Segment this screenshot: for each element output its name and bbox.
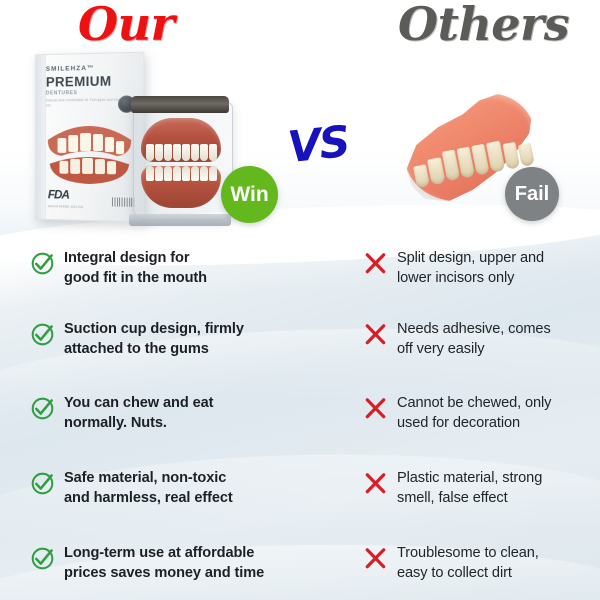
list-item: Troublesome to clean, easy to collect di… (363, 543, 539, 599)
cross-icon (363, 471, 388, 496)
list-item-label: Plastic material, strong smell, false ef… (397, 468, 542, 508)
denture-jar-lid (131, 96, 229, 113)
denture-jar-base (129, 214, 231, 226)
check-icon (30, 322, 55, 347)
check-icon (30, 251, 55, 276)
hero-image-area: SMILEHZA™ PREMIUM DENTURES Natural look … (0, 0, 600, 240)
vs-label: VS (286, 117, 351, 173)
list-item-label: Long-term use at affordable prices saves… (64, 543, 264, 583)
list-item: You can chew and eat normally. Nuts. (30, 393, 213, 449)
list-item-label: Needs adhesive, comes off very easily (397, 319, 551, 359)
list-item-label: You can chew and eat normally. Nuts. (64, 393, 213, 433)
list-item-label: Troublesome to clean, easy to collect di… (397, 543, 539, 583)
check-icon (30, 396, 55, 421)
cross-icon (363, 546, 388, 571)
denture-lower-teeth (144, 166, 218, 181)
list-item: Plastic material, strong smell, false ef… (363, 468, 542, 524)
cross-icon (363, 322, 388, 347)
denture-upper-teeth (144, 144, 218, 161)
list-item-label: Cannot be chewed, only used for decorati… (397, 393, 551, 433)
list-item: Safe material, non-toxic and harmless, r… (30, 468, 233, 524)
others-feature-column: Split design, upper and lower incisors o… (363, 242, 600, 600)
list-item: Long-term use at affordable prices saves… (30, 543, 264, 599)
list-item: Needs adhesive, comes off very easily (363, 319, 551, 375)
list-item: Cannot be chewed, only used for decorati… (363, 393, 551, 449)
denture-photo-icon (40, 114, 139, 187)
list-item-label: Safe material, non-toxic and harmless, r… (64, 468, 233, 508)
list-item: Suction cup design, firmly attached to t… (30, 319, 244, 375)
comparison-infographic: Our Others SMILEHZA™ PREMIUM DENTURES Na… (0, 0, 600, 600)
denture-model-image (131, 96, 233, 222)
cross-icon (363, 396, 388, 421)
fda-badge-icon: FDA (48, 187, 69, 201)
product-brand-label: SMILEHZA™ (46, 65, 95, 73)
list-item-label: Split design, upper and lower incisors o… (397, 248, 544, 288)
product-title-label: PREMIUM (46, 74, 112, 90)
product-subtitle-label: DENTURES (46, 90, 78, 96)
ours-feature-column: Integral design for good fit in the mout… (30, 242, 300, 600)
list-item: Split design, upper and lower incisors o… (363, 248, 544, 304)
check-icon (30, 471, 55, 496)
comparison-lists: Integral design for good fit in the mout… (0, 242, 600, 600)
check-icon (30, 546, 55, 571)
fail-badge: Fail (505, 167, 559, 221)
cross-icon (363, 251, 388, 276)
product-box-image: SMILEHZA™ PREMIUM DENTURES Natural look … (35, 52, 144, 223)
product-description-label: Natural look comfortable fit. Full upper… (46, 98, 123, 109)
list-item: Integral design for good fit in the mout… (30, 248, 207, 304)
list-item-label: Suction cup design, firmly attached to t… (64, 319, 244, 359)
list-item-label: Integral design for good fit in the mout… (64, 248, 207, 288)
win-badge: Win (221, 166, 278, 223)
fda-badge-sublabel: REGISTERED DEVICE (48, 204, 84, 209)
